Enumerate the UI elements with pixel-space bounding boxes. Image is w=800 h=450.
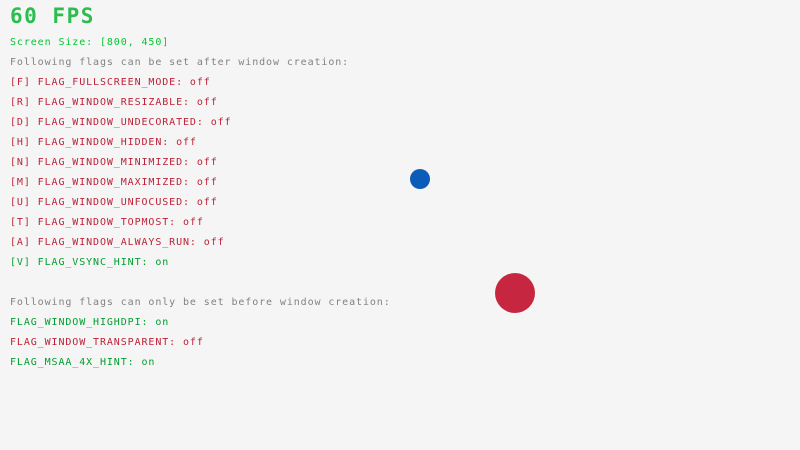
blue-ball-shape bbox=[410, 169, 430, 189]
flag-section-header-1: Following flags can only be set before w… bbox=[10, 298, 391, 308]
flag-line-flag-window-hidden[interactable]: [H] FLAG_WINDOW_HIDDEN: off bbox=[10, 138, 197, 148]
flag-line-flag-window-highdpi[interactable]: FLAG_WINDOW_HIGHDPI: on bbox=[10, 318, 169, 328]
flag-line-flag-msaa-4x-hint[interactable]: FLAG_MSAA_4X_HINT: on bbox=[10, 358, 155, 368]
flag-line-flag-vsync-hint[interactable]: [V] FLAG_VSYNC_HINT: on bbox=[10, 258, 169, 268]
flag-line-flag-window-always-run[interactable]: [A] FLAG_WINDOW_ALWAYS_RUN: off bbox=[10, 238, 225, 248]
red-ball-shape bbox=[495, 273, 535, 313]
flag-line-flag-window-topmost[interactable]: [T] FLAG_WINDOW_TOPMOST: off bbox=[10, 218, 204, 228]
screen-size-label: Screen Size: [800, 450] bbox=[10, 38, 169, 48]
flag-section-header-0: Following flags can be set after window … bbox=[10, 58, 349, 68]
flag-line-flag-window-maximized[interactable]: [M] FLAG_WINDOW_MAXIMIZED: off bbox=[10, 178, 218, 188]
flag-line-flag-window-unfocused[interactable]: [U] FLAG_WINDOW_UNFOCUSED: off bbox=[10, 198, 218, 208]
raylib-window-canvas: 60 FPS Screen Size: [800, 450] Following… bbox=[0, 0, 800, 450]
flag-line-flag-fullscreen-mode[interactable]: [F] FLAG_FULLSCREEN_MODE: off bbox=[10, 78, 211, 88]
fps-counter: 60 FPS bbox=[10, 6, 95, 27]
flag-line-flag-window-minimized[interactable]: [N] FLAG_WINDOW_MINIMIZED: off bbox=[10, 158, 218, 168]
flag-line-flag-window-undecorated[interactable]: [D] FLAG_WINDOW_UNDECORATED: off bbox=[10, 118, 231, 128]
flag-line-flag-window-transparent[interactable]: FLAG_WINDOW_TRANSPARENT: off bbox=[10, 338, 204, 348]
flag-line-flag-window-resizable[interactable]: [R] FLAG_WINDOW_RESIZABLE: off bbox=[10, 98, 218, 108]
